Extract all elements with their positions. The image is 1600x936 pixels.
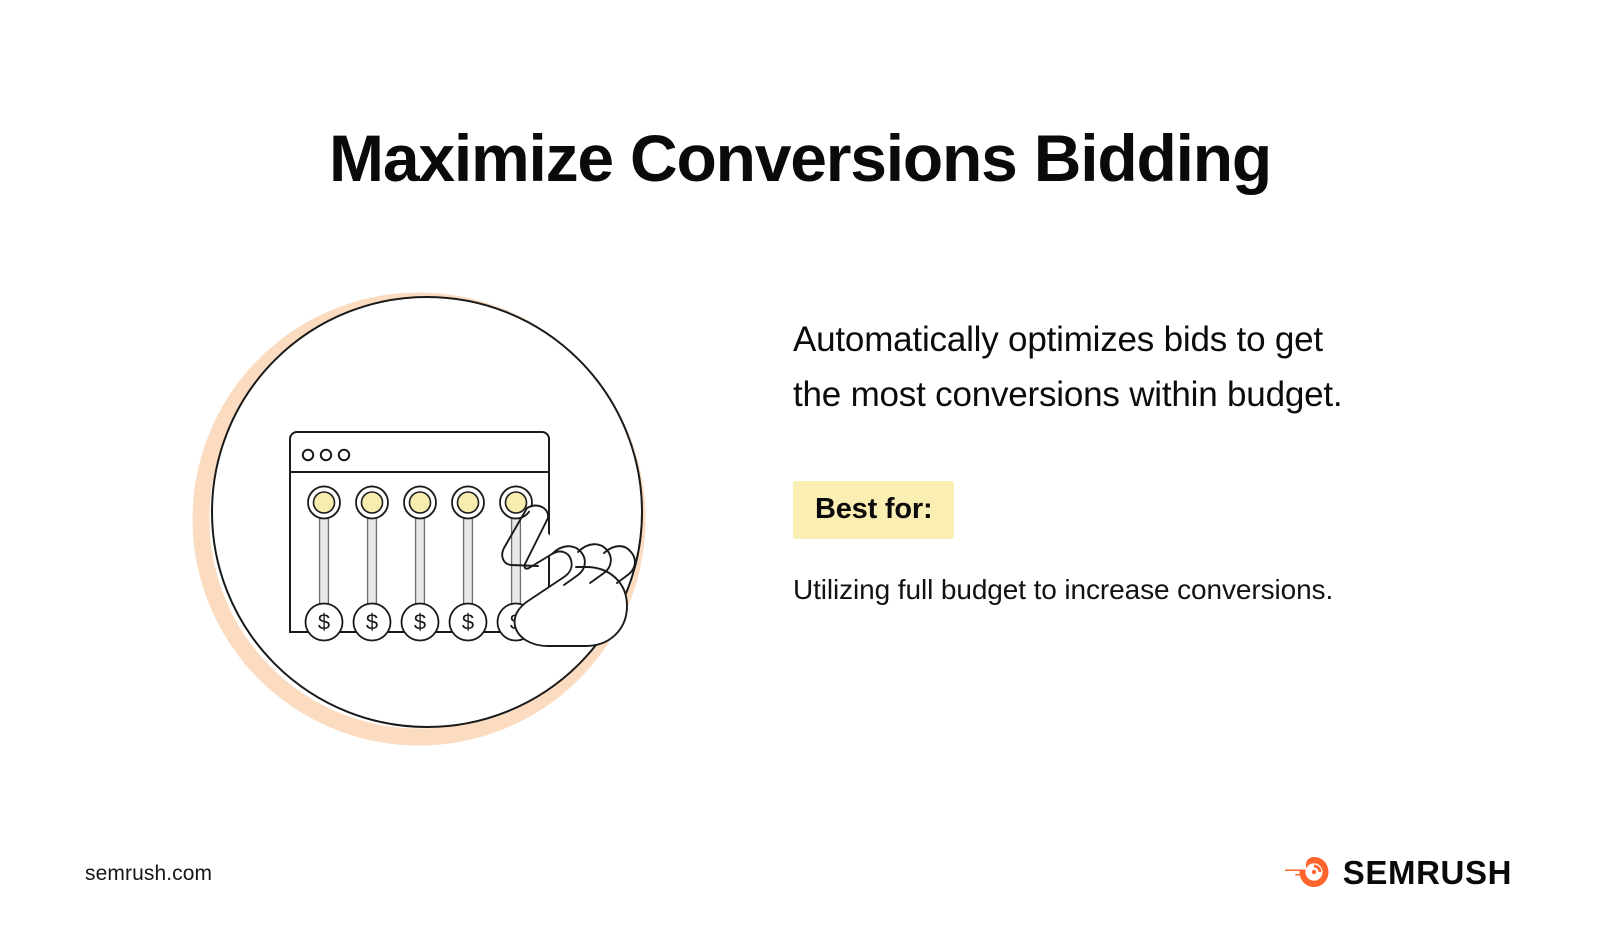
best-for-badge: Best for: [793,481,954,540]
semrush-wordmark: SEMRUSH [1343,856,1512,889]
semrush-logo[interactable]: SEMRUSH [1284,855,1512,889]
content-column: Automatically optimizes bids to get the … [793,312,1413,614]
semrush-comet-icon [1284,855,1330,889]
bid-sliders-illustration: $ [186,276,666,756]
best-for-block: Best for: Utilizing full budget to incre… [793,481,1413,614]
infographic-page: Maximize Conversions Bidding $ [0,0,1600,936]
page-title: Maximize Conversions Bidding [0,122,1600,195]
best-for-description: Utilizing full budget to increase conver… [793,567,1413,613]
footer-url[interactable]: semrush.com [85,862,212,886]
description-text: Automatically optimizes bids to get the … [793,312,1353,423]
